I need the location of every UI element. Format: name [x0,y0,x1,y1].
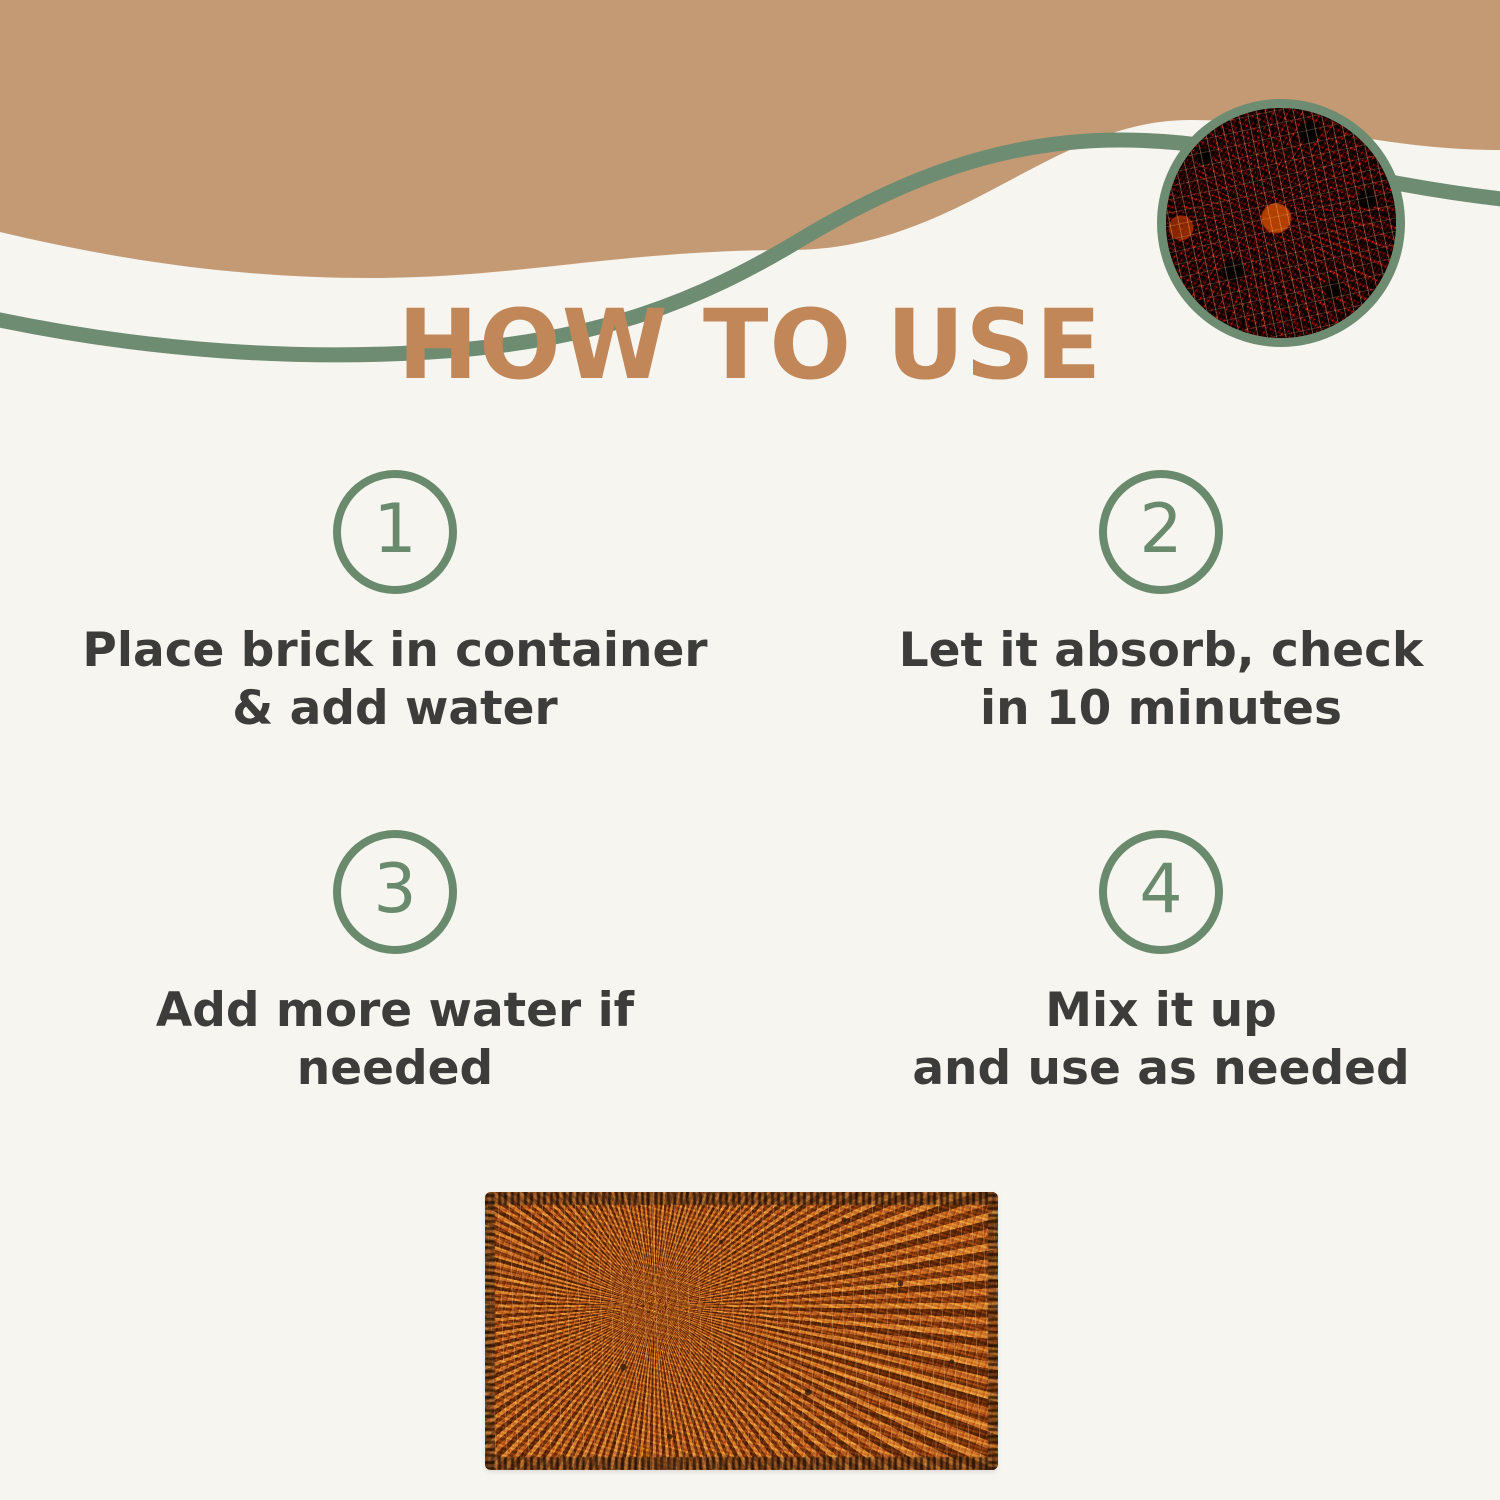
step-number-badge-2: 2 [1099,470,1223,594]
step-number-badge-1: 1 [333,470,457,594]
brick-edge-right [988,1192,998,1470]
step-label-1: Place brick in container & add water [82,622,707,739]
step-2: 2 Let it absorb, check in 10 minutes [750,470,1500,830]
step-number-1: 1 [373,496,416,564]
step-number-4: 4 [1139,856,1182,924]
step-number-2: 2 [1139,496,1182,564]
page-title: HOW TO USE [0,297,1500,393]
brick-speckle-overlay [485,1192,998,1470]
step-4: 4 Mix it up and use as needed [750,830,1500,1190]
brick-edge-bottom [485,1457,998,1470]
step-1: 1 Place brick in container & add water [0,470,750,830]
step-number-badge-4: 4 [1099,830,1223,954]
brick-edge-top [485,1192,998,1205]
steps-grid: 1 Place brick in container & add water 2… [0,470,1500,1190]
step-label-3: Add more water if needed [156,982,634,1099]
step-number-badge-3: 3 [333,830,457,954]
step-3: 3 Add more water if needed [0,830,750,1190]
step-label-4: Mix it up and use as needed [912,982,1409,1099]
step-label-2: Let it absorb, check in 10 minutes [899,622,1424,739]
brick-edge-left [485,1192,495,1470]
coir-brick-photo [485,1192,998,1470]
how-to-use-infographic: HOW TO USE 1 Place brick in container & … [0,0,1500,1500]
step-number-3: 3 [373,856,416,924]
